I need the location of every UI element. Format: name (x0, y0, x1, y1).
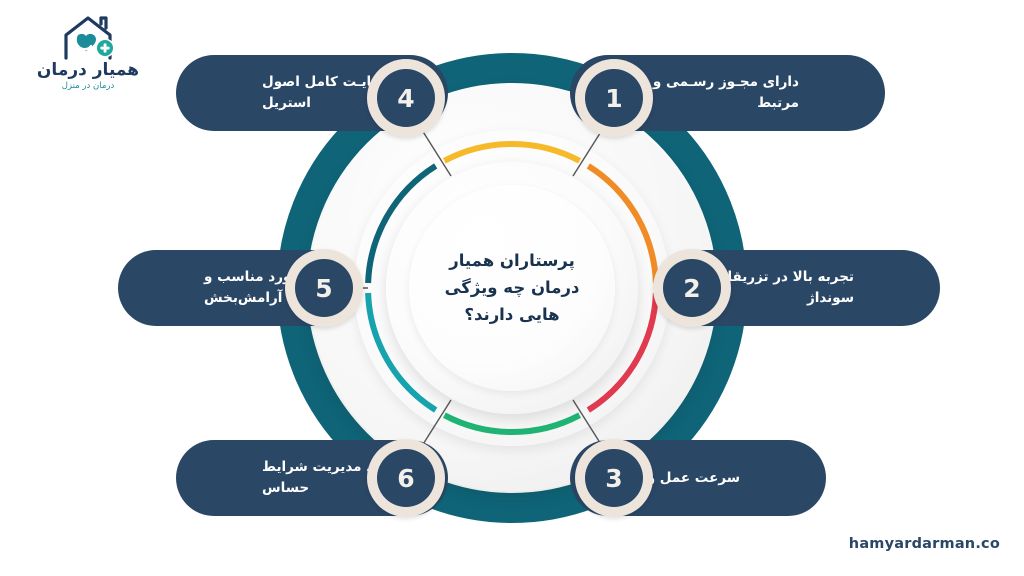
item-number-2: 2 (663, 259, 721, 317)
item-badge-3[interactable]: 3 (575, 439, 653, 517)
item-badge-5[interactable]: 5 (285, 249, 363, 327)
logo-title: همیار درمان (37, 62, 139, 79)
item-number-1: 1 (585, 69, 643, 127)
infographic-canvas: همیار درمان درمان در منزل (0, 0, 1024, 576)
item-number-5: 5 (295, 259, 353, 317)
item-number-3: 3 (585, 449, 643, 507)
website-url[interactable]: hamyardarman.co (849, 536, 1000, 552)
item-number-4: 4 (377, 69, 435, 127)
item-badge-6[interactable]: 6 (367, 439, 445, 517)
item-number-6: 6 (377, 449, 435, 507)
item-badge-2[interactable]: 2 (653, 249, 731, 327)
logo-subtitle: درمان در منزل (62, 82, 115, 91)
item-badge-4[interactable]: 4 (367, 59, 445, 137)
brand-logo: همیار درمان درمان در منزل (18, 14, 158, 100)
house-heart-stethoscope-icon (56, 14, 120, 60)
item-badge-1[interactable]: 1 (575, 59, 653, 137)
